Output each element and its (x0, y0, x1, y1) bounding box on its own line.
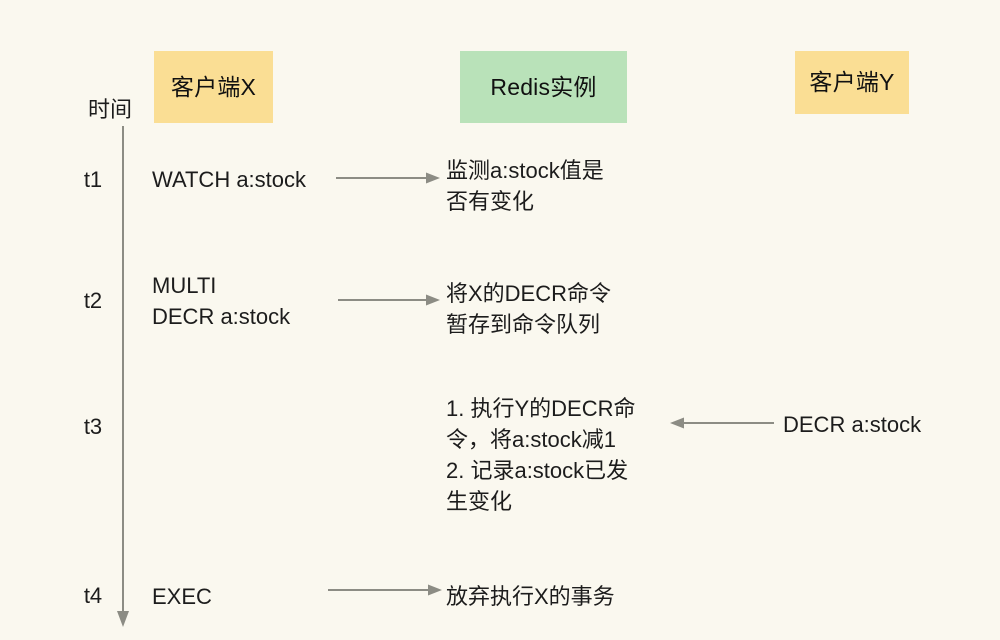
time-axis-arrow-icon (106, 126, 142, 631)
actor-box-redis: Redis实例 (460, 51, 627, 123)
step-t2-client-message: MULTI DECR a:stock (152, 270, 290, 332)
step-t2-redis-message: 将X的DECR命令 暂存到命令队列 (446, 278, 611, 340)
actor-label-client-x: 客户端X (171, 76, 256, 99)
actor-box-client-y: 客户端Y (795, 51, 909, 114)
step-t1-client-message: WATCH a:stock (152, 164, 306, 195)
tick-label-t1: t1 (76, 169, 110, 191)
tick-label-t2: t2 (76, 290, 110, 312)
step-t3-client-y-message: DECR a:stock (783, 409, 921, 440)
step-t3-arrow-left-icon (668, 416, 774, 430)
step-t2-arrow-right-icon (338, 293, 442, 307)
sequence-diagram: 客户端X Redis实例 客户端Y 时间 t1 t2 t3 t4 WATCH a… (0, 0, 1000, 640)
actor-label-redis: Redis实例 (490, 76, 596, 99)
actor-label-client-y: 客户端Y (809, 71, 894, 94)
tick-label-t3: t3 (76, 416, 110, 438)
time-axis-label: 时间 (88, 99, 132, 121)
step-t4-redis-message: 放弃执行X的事务 (446, 581, 615, 612)
step-t4-arrow-right-icon (328, 583, 444, 597)
step-t3-redis-message: 1. 执行Y的DECR命 令，将a:stock减1 2. 记录a:stock已发… (446, 393, 635, 517)
step-t1-arrow-right-icon (336, 171, 442, 185)
tick-label-t4: t4 (76, 585, 110, 607)
step-t4-client-message: EXEC (152, 581, 212, 612)
step-t1-redis-message: 监测a:stock值是 否有变化 (446, 155, 604, 217)
actor-box-client-x: 客户端X (154, 51, 273, 123)
